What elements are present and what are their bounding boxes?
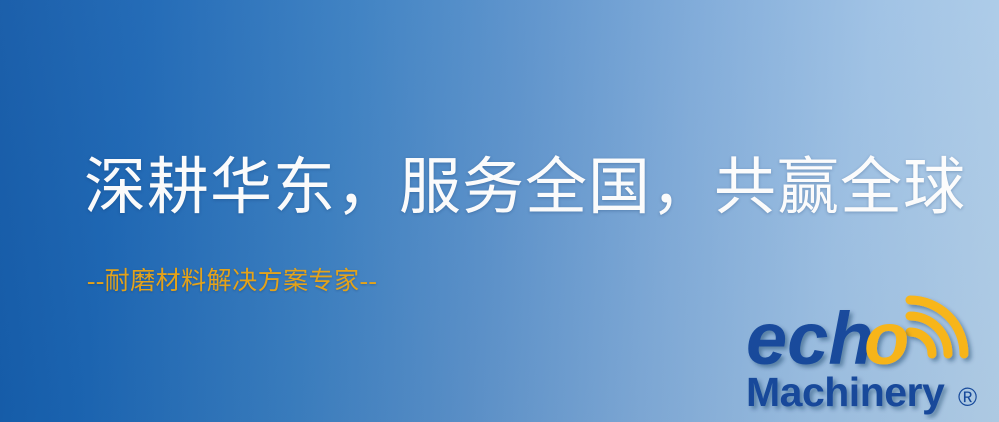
page-title: 深耕华东，服务全国，共赢全球 [84,152,966,224]
page-subtitle: --耐磨材料解决方案专家-- [87,266,377,298]
signal-arcs-icon [910,300,964,354]
echo-machinery-logo[interactable]: ech o Machinery ® [742,292,994,420]
registered-mark-icon: ® [958,382,977,412]
logo-wordmark-ech: ech [746,297,874,380]
logo-wordmark-o: o [864,297,909,380]
hero-banner: 深耕华东，服务全国，共赢全球 --耐磨材料解决方案专家-- ech o Mach… [0,0,999,422]
logo-tagline: Machinery [746,369,945,415]
